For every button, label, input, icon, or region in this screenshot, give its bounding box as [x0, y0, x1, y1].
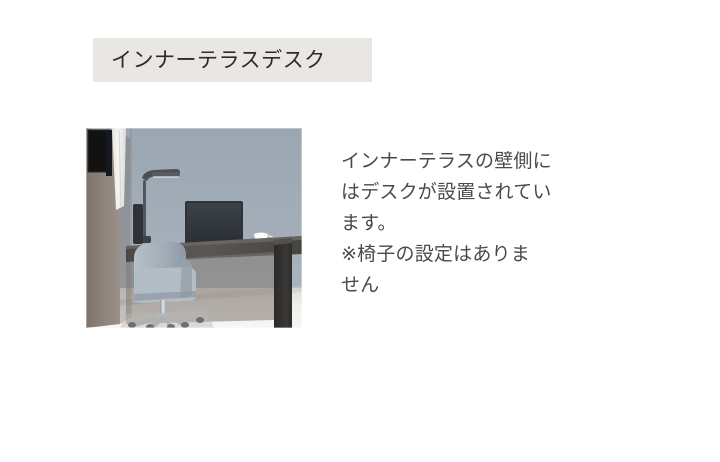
description-line-5: せん	[341, 270, 593, 301]
page-title: インナーテラスデスク	[93, 50, 326, 71]
description-line-4: ※椅子の設定はありま	[341, 239, 593, 270]
description-line-3: ます。	[341, 208, 593, 239]
description-line-2: はデスクが設置されてい	[341, 177, 593, 208]
description-line-1: インナーテラスの壁側に	[341, 146, 593, 177]
interior-photo-illustration	[86, 128, 302, 328]
interior-photo	[86, 128, 302, 328]
section-title-bar: インナーテラスデスク	[93, 38, 372, 82]
description-text: インナーテラスの壁側に はデスクが設置されてい ます。 ※椅子の設定はありま せ…	[341, 146, 593, 301]
